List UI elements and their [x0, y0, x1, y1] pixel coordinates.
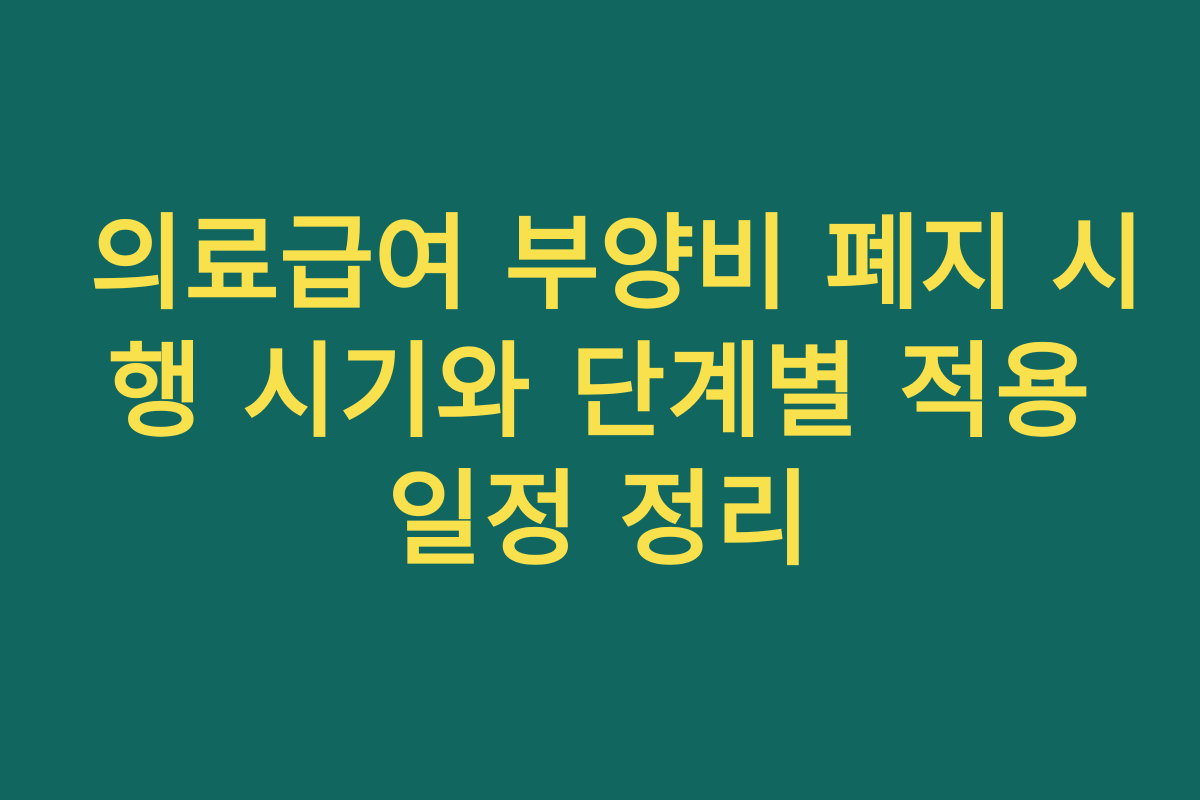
thumbnail-card: 의료급여 부양비 폐지 시 행 시기와 단계별 적용 일정 정리 — [0, 0, 1200, 800]
title-line-1: 의료급여 부양비 폐지 시 — [90, 200, 1110, 328]
title-line-2: 행 시기와 단계별 적용 — [90, 328, 1110, 456]
page-title: 의료급여 부양비 폐지 시 행 시기와 단계별 적용 일정 정리 — [70, 200, 1130, 584]
title-line-3: 일정 정리 — [90, 456, 1110, 584]
